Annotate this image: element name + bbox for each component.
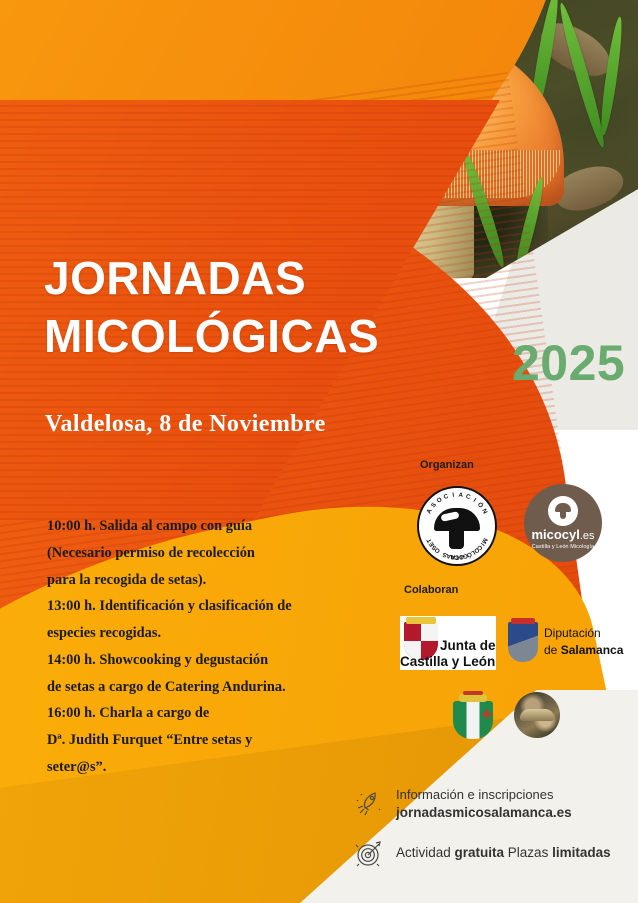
footer: Información e inscripciones jornadasmico…: [352, 786, 632, 884]
year-label: 2025: [512, 334, 625, 392]
logo-diputacion-salamanca: Diputación de Salamanca: [508, 618, 628, 670]
schedule-line: 14:00 h. Showcooking y degustación: [47, 647, 367, 674]
schedule-line: 16:00 h. Charla a cargo de: [47, 700, 367, 727]
cross-icon: ✚: [481, 709, 493, 721]
logo-ayuntamiento: ✚: [447, 692, 499, 742]
footer-info-text: Información e inscripciones jornadasmico…: [396, 786, 572, 822]
shield-quarter: [421, 622, 438, 641]
diputacion-line-1: Diputación: [544, 626, 601, 640]
crown-icon: [459, 694, 487, 702]
schedule-line: 10:00 h. Salida al campo con guía: [47, 513, 367, 540]
micocyl-wordmark: micocyl.es: [531, 528, 594, 542]
schedule-list: 10:00 h. Salida al campo con guía (Neces…: [47, 513, 367, 781]
diputacion-shield-icon: [508, 622, 538, 662]
shield-quarter: [404, 622, 421, 641]
target-icon: [352, 836, 386, 870]
schedule-line: de setas a cargo de Catering Andurina.: [47, 674, 367, 701]
title-line-2: MICOLÓGICAS: [44, 308, 464, 366]
activity-prefix: Actividad: [396, 845, 455, 860]
collaborators-label: Colaboran: [404, 584, 458, 596]
logo-mushroom-photo-badge: [514, 692, 560, 738]
places-limited: limitadas: [552, 845, 611, 860]
logo-micocyl: micocyl.es Castilla y León Micología: [524, 484, 602, 562]
micocyl-tagline: Castilla y León Micología: [532, 544, 594, 550]
mushroom-icon-stem: [449, 529, 464, 549]
title-line-1: JORNADAS: [44, 250, 464, 308]
ayuntamiento-shield-icon: ✚: [453, 701, 493, 739]
diputacion-line-2: de Salamanca: [544, 643, 623, 657]
micocyl-name: micocyl: [531, 527, 579, 542]
schedule-line: (Necesario permiso de recolección: [47, 540, 367, 567]
places-prefix: Plazas: [504, 845, 552, 860]
poster: JORNADAS MICOLÓGICAS 2025 Valdelosa, 8 d…: [0, 0, 638, 903]
junta-line-1: Junta de: [440, 638, 496, 653]
schedule-line: especies recogidas.: [47, 620, 367, 647]
schedule-line: seter@s”.: [47, 754, 367, 781]
junta-line-2: Castilla y León: [400, 654, 495, 669]
activity-free: gratuita: [455, 845, 505, 860]
footer-activity-row: Actividad gratuita Plazas limitadas: [352, 836, 632, 870]
diputacion-salamanca: Salamanca: [561, 643, 624, 657]
micocyl-mushroom-icon: [548, 496, 578, 526]
micocyl-tld: .es: [580, 530, 595, 542]
diputacion-de: de: [544, 643, 561, 657]
page-title: JORNADAS MICOLÓGICAS: [44, 250, 464, 366]
crown-icon: [511, 618, 535, 624]
schedule-line: para la recogida de setas).: [47, 567, 367, 594]
crown-icon: [406, 617, 436, 624]
footer-info-label: Información e inscripciones: [396, 787, 554, 802]
logo-junta-castilla-y-leon: Junta de Castilla y León: [400, 616, 496, 670]
mushroom-icon: [434, 508, 480, 548]
mushroom-icon-cap: [434, 508, 480, 531]
schedule-line: 13:00 h. Identificación y clasificación …: [47, 593, 367, 620]
logo-teso-santo: ASOCIACIÓN TESO SANTO MICOLÓGICA: [417, 486, 497, 566]
footer-info-row: Información e inscripciones jornadasmico…: [352, 786, 632, 822]
rocket-icon: [352, 787, 386, 821]
schedule-line: Dª. Judith Furquet “Entre setas y: [47, 727, 367, 754]
footer-website[interactable]: jornadasmicosalamanca.es: [396, 805, 572, 820]
event-location-date: Valdelosa, 8 de Noviembre: [45, 411, 326, 438]
footer-activity-text: Actividad gratuita Plazas limitadas: [396, 845, 611, 860]
organizers-label: Organizan: [420, 459, 474, 471]
